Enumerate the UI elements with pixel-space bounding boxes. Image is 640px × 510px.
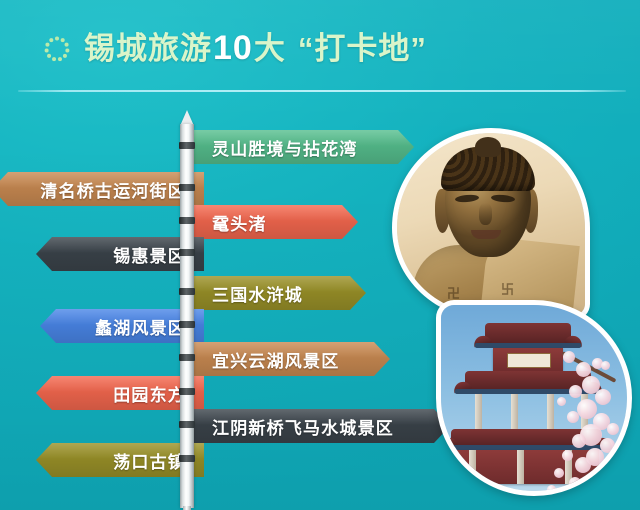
sign-label: 清名桥古运河街区 <box>40 177 186 202</box>
buddha-scene: 卍 卐 <box>397 133 585 315</box>
ring-dot <box>45 42 50 47</box>
signpost-sign[interactable]: 清名桥古运河街区 <box>0 172 204 206</box>
ring-dot <box>58 57 63 62</box>
robe-motif-right: 卐 <box>501 279 514 298</box>
signpost-sign[interactable]: 鼋头渚 <box>194 205 358 239</box>
sign-label: 荡口古镇 <box>113 448 186 473</box>
ring-dot <box>44 48 49 53</box>
pole-band <box>179 321 195 328</box>
pagoda-roof-top <box>485 323 571 345</box>
pagoda-scene <box>441 305 627 491</box>
pole-band <box>179 388 195 395</box>
title-suffix: 大 <box>254 31 286 66</box>
ring-dot <box>52 57 57 62</box>
pagoda-name-plaque <box>507 353 551 368</box>
ring-dot <box>55 36 60 41</box>
signpost-pole <box>180 110 194 508</box>
cherry-blossom <box>569 385 582 398</box>
pagoda-column-2 <box>511 394 518 434</box>
pole-band <box>179 455 195 462</box>
buddha-nose <box>479 203 492 225</box>
buddha-mouth <box>471 230 501 239</box>
cherry-blossom <box>601 361 610 370</box>
sign-label: 三国水浒城 <box>212 281 303 306</box>
cherry-blossom <box>607 423 619 435</box>
cherry-blossom <box>592 474 606 488</box>
cherry-blossom <box>563 351 575 363</box>
buddha-statue-photo[interactable]: 卍 卐 <box>392 128 590 320</box>
pole-shaft <box>180 124 194 508</box>
pole-band <box>179 142 195 149</box>
cherry-blossom <box>603 463 616 476</box>
tourism-poster: 锡城旅游10大“打卡地” 灵山胜境与拈花湾清名桥古运河街区鼋头渚锡惠景区三国水浒… <box>0 0 640 510</box>
ring-dot <box>49 38 54 43</box>
cherry-blossom <box>572 434 586 448</box>
ring-dot <box>47 54 52 59</box>
sign-label: 田园东方 <box>113 381 186 406</box>
cherry-blossom <box>567 411 579 423</box>
pole-band <box>179 421 195 428</box>
title-quoted: “打卡地” <box>286 31 427 66</box>
sign-label: 灵山胜境与拈花湾 <box>212 135 358 160</box>
pagoda-column-3 <box>547 394 554 434</box>
header-divider <box>18 90 626 92</box>
pagoda-column-1 <box>475 394 482 434</box>
pole-band <box>179 184 195 191</box>
pole-band <box>179 217 195 224</box>
pole-band <box>179 249 195 256</box>
cherry-blossom <box>595 389 611 405</box>
cherry-blossom <box>569 477 581 489</box>
pagoda-photo[interactable] <box>436 300 632 496</box>
cherry-blossom <box>575 457 591 473</box>
pole-band <box>179 354 195 361</box>
signpost-sign[interactable]: 江阴新桥飞马水城景区 <box>194 409 450 443</box>
sign-label: 江阴新桥飞马水城景区 <box>212 414 394 439</box>
pole-foot <box>183 506 191 510</box>
title-number: 10 <box>212 29 254 67</box>
sign-label: 宜兴云湖风景区 <box>212 347 339 372</box>
signpost-sign[interactable]: 灵山胜境与拈花湾 <box>194 130 414 164</box>
pagoda-column-5 <box>469 450 476 484</box>
sign-label: 鼋头渚 <box>212 210 267 235</box>
pagoda-column-6 <box>517 450 524 484</box>
buddha-ushnisha <box>475 137 501 157</box>
title-prefix: 锡城旅游 <box>84 31 212 66</box>
cherry-blossom <box>547 485 556 494</box>
pole-band <box>179 288 195 295</box>
signpost-sign[interactable]: 三国水浒城 <box>194 276 366 310</box>
page-title: 锡城旅游10大“打卡地” <box>84 23 427 74</box>
sign-label: 锡惠景区 <box>113 242 186 267</box>
sign-label: 蠡湖风景区 <box>95 314 186 339</box>
cherry-blossom <box>554 468 564 478</box>
dotted-ring-icon <box>44 36 70 62</box>
signpost-sign[interactable]: 宜兴云湖风景区 <box>194 342 390 376</box>
cherry-blossom <box>576 362 591 377</box>
ring-dot <box>63 54 68 59</box>
ring-dot <box>64 42 69 47</box>
cherry-blossom <box>557 397 566 406</box>
ring-dot <box>65 48 70 53</box>
poster-header: 锡城旅游10大“打卡地” <box>0 0 640 92</box>
cherry-blossom <box>562 450 573 461</box>
